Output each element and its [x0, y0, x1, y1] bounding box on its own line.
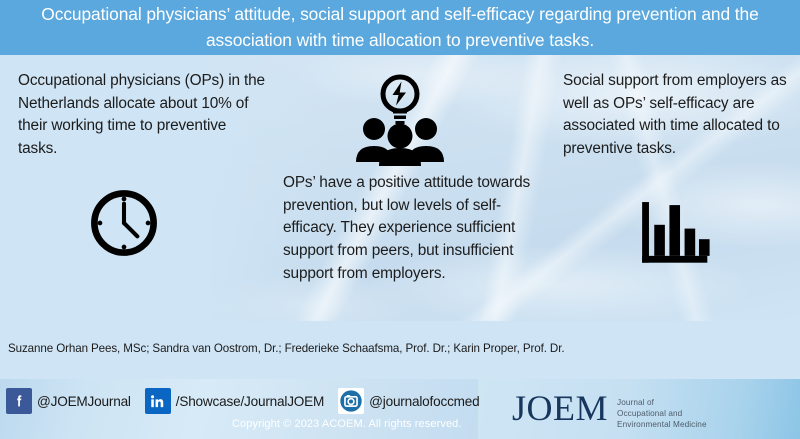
bar-chart-icon	[639, 196, 715, 273]
footer-bar: @JOEMJournal /Showcase/JournalJOEM	[0, 379, 800, 439]
header-banner: Occupational physicians’ attitude, socia…	[0, 0, 800, 55]
joem-logo-subtitle: Journal of Occupational and Environmenta…	[617, 391, 707, 430]
social-link-linkedin[interactable]: /Showcase/JournalJOEM	[145, 388, 338, 414]
joem-wordmark: JOEM	[512, 391, 608, 425]
social-link-instagram[interactable]: @journalofoccmed	[338, 388, 493, 414]
copyright-text: Copyright © 2023 ACOEM. All rights reser…	[232, 418, 462, 430]
linkedin-icon	[145, 388, 171, 414]
clock-icon	[87, 186, 161, 265]
instagram-handle: @journalofoccmed	[369, 394, 479, 409]
joem-subtitle-line-1: Journal of	[617, 398, 654, 407]
facebook-icon	[6, 388, 32, 414]
finding-text-right: Social support from employers as well as…	[563, 70, 795, 161]
authors-line: Suzanne Orhan Pees, MSc; Sandra van Oost…	[8, 342, 708, 355]
infographic-poster: Occupational physicians’ attitude, socia…	[0, 0, 800, 439]
page-title: Occupational physicians’ attitude, socia…	[0, 2, 800, 52]
finding-text-middle: OPs’ have a positive attitude towards pr…	[283, 172, 545, 285]
finding-text-left: Occupational physicians (OPs) in the Net…	[18, 70, 268, 161]
social-links-row: @JOEMJournal /Showcase/JournalJOEM	[6, 387, 494, 415]
joem-subtitle-line-2: Occupational and	[617, 409, 682, 418]
instagram-icon	[338, 388, 364, 414]
linkedin-handle: /Showcase/JournalJOEM	[176, 394, 324, 409]
people-idea-icon	[348, 72, 452, 171]
joem-logo: JOEM Journal of Occupational and Environ…	[512, 391, 707, 430]
facebook-handle: @JOEMJournal	[37, 394, 131, 409]
social-link-facebook[interactable]: @JOEMJournal	[6, 388, 145, 414]
joem-subtitle-line-3: Environmental Medicine	[617, 420, 707, 429]
